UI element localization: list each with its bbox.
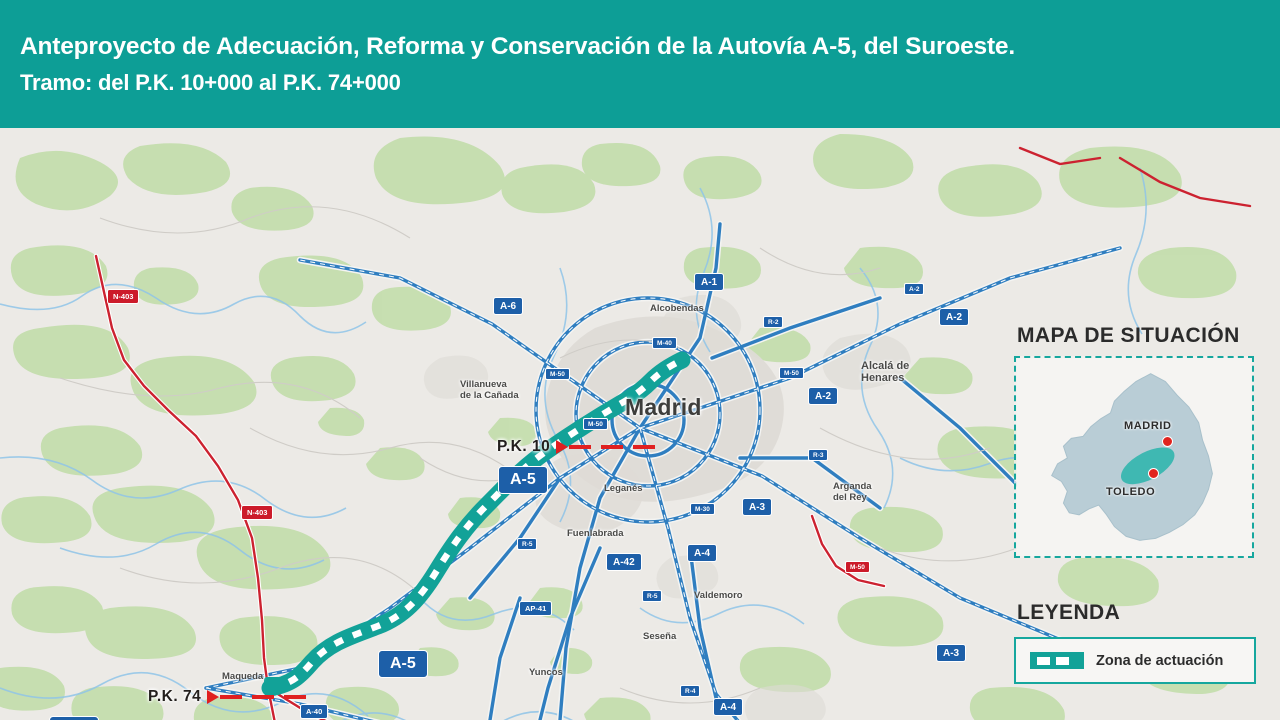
road-shield-m-50: M-50 (845, 561, 870, 573)
road-shield-a-2: A-2 (939, 308, 969, 326)
pk-end-marker: P.K. 74 (148, 688, 306, 706)
pk-dash-seg (220, 695, 242, 698)
pk-start-label: P.K. 10 (497, 438, 550, 456)
road-shield-a-5: A-5 (49, 716, 99, 720)
road-shield-m-50: M-50 (583, 418, 608, 430)
road-shield-r-4: R-4 (680, 685, 700, 697)
page-title-line2: Tramo: del P.K. 10+000 al P.K. 74+000 (20, 67, 1280, 99)
road-shield-r-5: R-5 (642, 590, 662, 602)
leyenda-box: Zona de actuación (1014, 637, 1256, 684)
road-shield-a-5: A-5 (498, 466, 548, 494)
road-shield-n-403: N-403 (107, 289, 139, 304)
road-shield-m-30: M-30 (690, 503, 715, 515)
pk-end-label: P.K. 74 (148, 688, 201, 706)
pk-end-arrow-icon (207, 690, 219, 704)
header-banner: Anteproyecto de Adecuación, Reforma y Co… (0, 0, 1280, 128)
situacion-inset-map: MADRID TOLEDO (1014, 356, 1254, 558)
road-shield-a-4: A-4 (687, 544, 717, 562)
pk-dash-seg (252, 695, 274, 698)
situacion-inset-svg (1016, 358, 1252, 556)
road-shield-a-42: A-42 (606, 553, 642, 571)
road-shield-a-1: A-1 (694, 273, 724, 291)
situacion-title: MAPA DE SITUACIÓN (1017, 324, 1240, 348)
page-title-line1: Anteproyecto de Adecuación, Reforma y Co… (20, 30, 1280, 64)
road-shield-m-50: M-50 (779, 367, 804, 379)
road-shield-r-3: R-3 (808, 449, 828, 461)
road-shield-m-50: M-50 (545, 368, 570, 380)
road-shield-n-403: N-403 (241, 505, 273, 520)
road-shield-a-3: A-3 (742, 498, 772, 516)
poster-root: Anteproyecto de Adecuación, Reforma y Co… (0, 0, 1280, 720)
pk-dash-seg (601, 445, 623, 448)
road-shield-a-5: A-5 (378, 650, 428, 678)
road-shield-r-5: R-5 (517, 538, 537, 550)
road-shield-ap-41: AP-41 (519, 601, 552, 616)
pk-start-marker: P.K. 10 (497, 438, 655, 456)
situacion-dot-toledo (1148, 468, 1159, 479)
situacion-city-toledo: TOLEDO (1106, 486, 1155, 498)
road-shield-a-2: A-2 (904, 283, 924, 295)
road-shield-a-2: A-2 (808, 387, 838, 405)
road-shield-m-40: M-40 (652, 337, 677, 349)
leyenda-item-label: Zona de actuación (1096, 653, 1223, 669)
leyenda-title: LEYENDA (1017, 601, 1120, 625)
road-shield-a-3: A-3 (936, 644, 966, 662)
pk-dash-seg (284, 695, 306, 698)
road-shield-a-6: A-6 (493, 297, 523, 315)
situacion-city-madrid: MADRID (1124, 420, 1172, 432)
zona-actuacion-swatch-icon (1030, 652, 1084, 669)
road-shield-a-40: A-40 (300, 704, 328, 719)
pk-start-arrow-icon (556, 440, 568, 454)
road-shield-a-4: A-4 (713, 698, 743, 716)
situacion-dot-madrid (1162, 436, 1173, 447)
road-shield-r-2: R-2 (763, 316, 783, 328)
map-canvas[interactable]: MadridAlcobendasAlcalá de HenaresVillanu… (0, 128, 1280, 720)
pk-dash-seg (569, 445, 591, 448)
pk-dash-seg (633, 445, 655, 448)
